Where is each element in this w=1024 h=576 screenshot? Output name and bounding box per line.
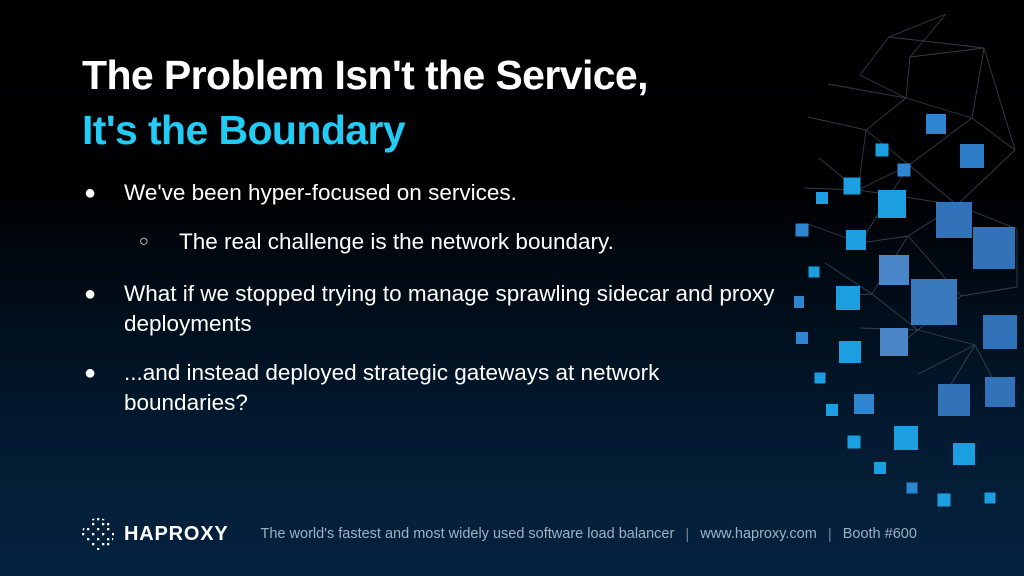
network-node xyxy=(796,224,809,237)
footer-website: www.haproxy.com xyxy=(700,526,817,542)
page-title: The Problem Isn't the Service, It's the … xyxy=(82,48,802,157)
network-node xyxy=(936,202,972,238)
network-node xyxy=(878,190,906,218)
network-node xyxy=(985,377,1015,407)
bullet-dot-icon: ● xyxy=(80,358,124,388)
network-node xyxy=(973,227,1015,269)
network-node xyxy=(938,494,951,507)
brand-wordmark: HAPROXY xyxy=(124,523,229,546)
list-item: ○The real challenge is the network bound… xyxy=(135,227,780,257)
network-node xyxy=(983,315,1017,349)
network-edges xyxy=(804,14,1017,386)
edge-path xyxy=(804,14,1017,386)
network-node xyxy=(938,384,970,416)
bullet-list: ●We've been hyper-focused on services.○T… xyxy=(80,178,780,437)
list-item: ●...and instead deployed strategic gatew… xyxy=(80,358,780,418)
network-node xyxy=(844,178,861,195)
logo-svg xyxy=(80,516,116,552)
footer-booth: Booth #600 xyxy=(843,526,917,542)
network-node xyxy=(907,483,918,494)
network-node xyxy=(874,462,886,474)
logo-dots xyxy=(82,518,114,550)
network-node-squares xyxy=(794,114,1017,507)
bullet-dot-icon: ● xyxy=(80,178,124,208)
list-item: ●We've been hyper-focused on services. xyxy=(80,178,780,208)
network-node xyxy=(985,493,996,504)
network-node xyxy=(876,144,889,157)
footer-separator-2: | xyxy=(828,526,832,543)
network-node xyxy=(815,373,826,384)
network-svg xyxy=(794,0,1024,576)
network-node xyxy=(879,255,909,285)
list-item-text: ...and instead deployed strategic gatewa… xyxy=(124,358,780,418)
footer-separator-1: | xyxy=(685,526,689,543)
network-node xyxy=(898,164,911,177)
network-node xyxy=(846,230,866,250)
list-item-text: What if we stopped trying to manage spra… xyxy=(124,279,780,339)
footer-text: The world's fastest and most widely used… xyxy=(261,526,917,543)
title-line-2: It's the Boundary xyxy=(82,103,802,158)
bullet-dot-icon: ● xyxy=(80,279,124,309)
network-node xyxy=(816,192,828,204)
presentation-slide: The Problem Isn't the Service, It's the … xyxy=(0,0,1024,576)
network-node xyxy=(894,426,918,450)
network-node xyxy=(854,394,874,414)
network-node xyxy=(848,436,861,449)
network-node xyxy=(796,332,808,344)
network-node xyxy=(809,267,820,278)
network-node xyxy=(911,279,957,325)
list-item-text: We've been hyper-focused on services. xyxy=(124,178,780,208)
title-line-1: The Problem Isn't the Service, xyxy=(82,48,802,103)
slide-footer: HAPROXY The world's fastest and most wid… xyxy=(80,514,917,554)
network-node xyxy=(953,443,975,465)
network-node xyxy=(839,341,861,363)
network-node xyxy=(826,404,838,416)
network-node xyxy=(880,328,908,356)
haproxy-dot-sphere-logo-icon xyxy=(80,516,116,552)
network-node xyxy=(926,114,946,134)
network-node xyxy=(836,286,860,310)
list-item: ●What if we stopped trying to manage spr… xyxy=(80,279,780,339)
network-node xyxy=(794,296,804,308)
list-item-text: The real challenge is the network bounda… xyxy=(179,227,780,257)
network-node xyxy=(960,144,984,168)
network-nodes-graphic xyxy=(794,0,1024,576)
bullet-circle-icon: ○ xyxy=(135,227,179,257)
footer-tagline: The world's fastest and most widely used… xyxy=(261,526,675,542)
